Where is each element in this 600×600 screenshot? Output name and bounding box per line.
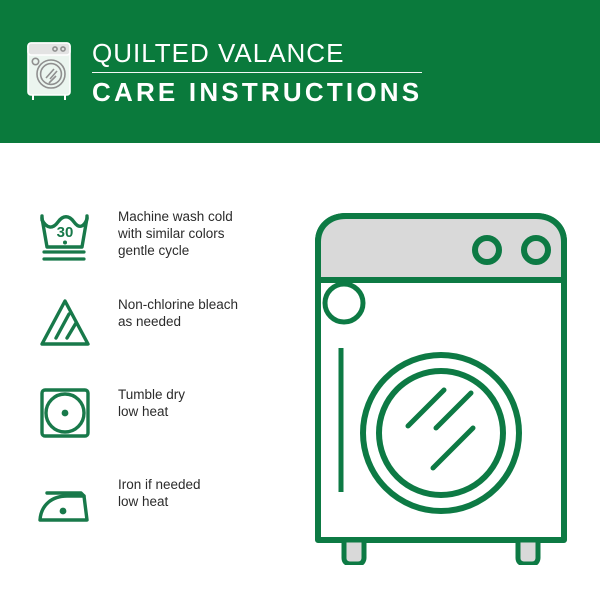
knob-right-icon[interactable] (524, 238, 548, 262)
machine-leg-left (344, 540, 364, 564)
heat-dot (62, 410, 69, 417)
wash-tub-30-gentle-icon: 30 (34, 204, 96, 266)
care-instruction-text: Machine wash cold with similar colors ge… (118, 204, 233, 259)
header-content: QUILTED VALANCE CARE INSTRUCTIONS (24, 38, 422, 107)
header-band: QUILTED VALANCE CARE INSTRUCTIONS (0, 0, 600, 143)
care-instruction-text: Tumble dry low heat (118, 382, 185, 420)
title-divider (92, 72, 422, 73)
knob-left-icon[interactable] (475, 238, 499, 262)
iron-low-heat-icon (34, 472, 96, 534)
washing-machine-icon (24, 40, 78, 102)
care-instruction-row: Tumble dry low heat (34, 382, 284, 444)
header-title-block: QUILTED VALANCE CARE INSTRUCTIONS (92, 38, 422, 107)
care-instruction-text: Non-chlorine bleach as needed (118, 292, 238, 330)
care-instruction-row: 30 Machine wash cold with similar colors… (34, 204, 284, 266)
care-instruction-row: Non-chlorine bleach as needed (34, 292, 284, 354)
washing-machine-illustration (296, 200, 576, 565)
wash-temperature-label: 30 (57, 224, 74, 241)
non-chlorine-bleach-triangle-icon (34, 292, 96, 354)
page-title: QUILTED VALANCE (92, 38, 422, 68)
care-instruction-text: Iron if needed low heat (118, 472, 201, 510)
care-instruction-row: Iron if needed low heat (34, 472, 284, 534)
page-subtitle: CARE INSTRUCTIONS (92, 77, 422, 107)
heat-dot (60, 508, 67, 515)
tumble-dry-low-heat-icon (34, 382, 96, 444)
heat-dot (63, 241, 67, 245)
care-instructions-infographic: QUILTED VALANCE CARE INSTRUCTIONS 30 Mac… (0, 0, 600, 600)
machine-leg-right (518, 540, 538, 564)
